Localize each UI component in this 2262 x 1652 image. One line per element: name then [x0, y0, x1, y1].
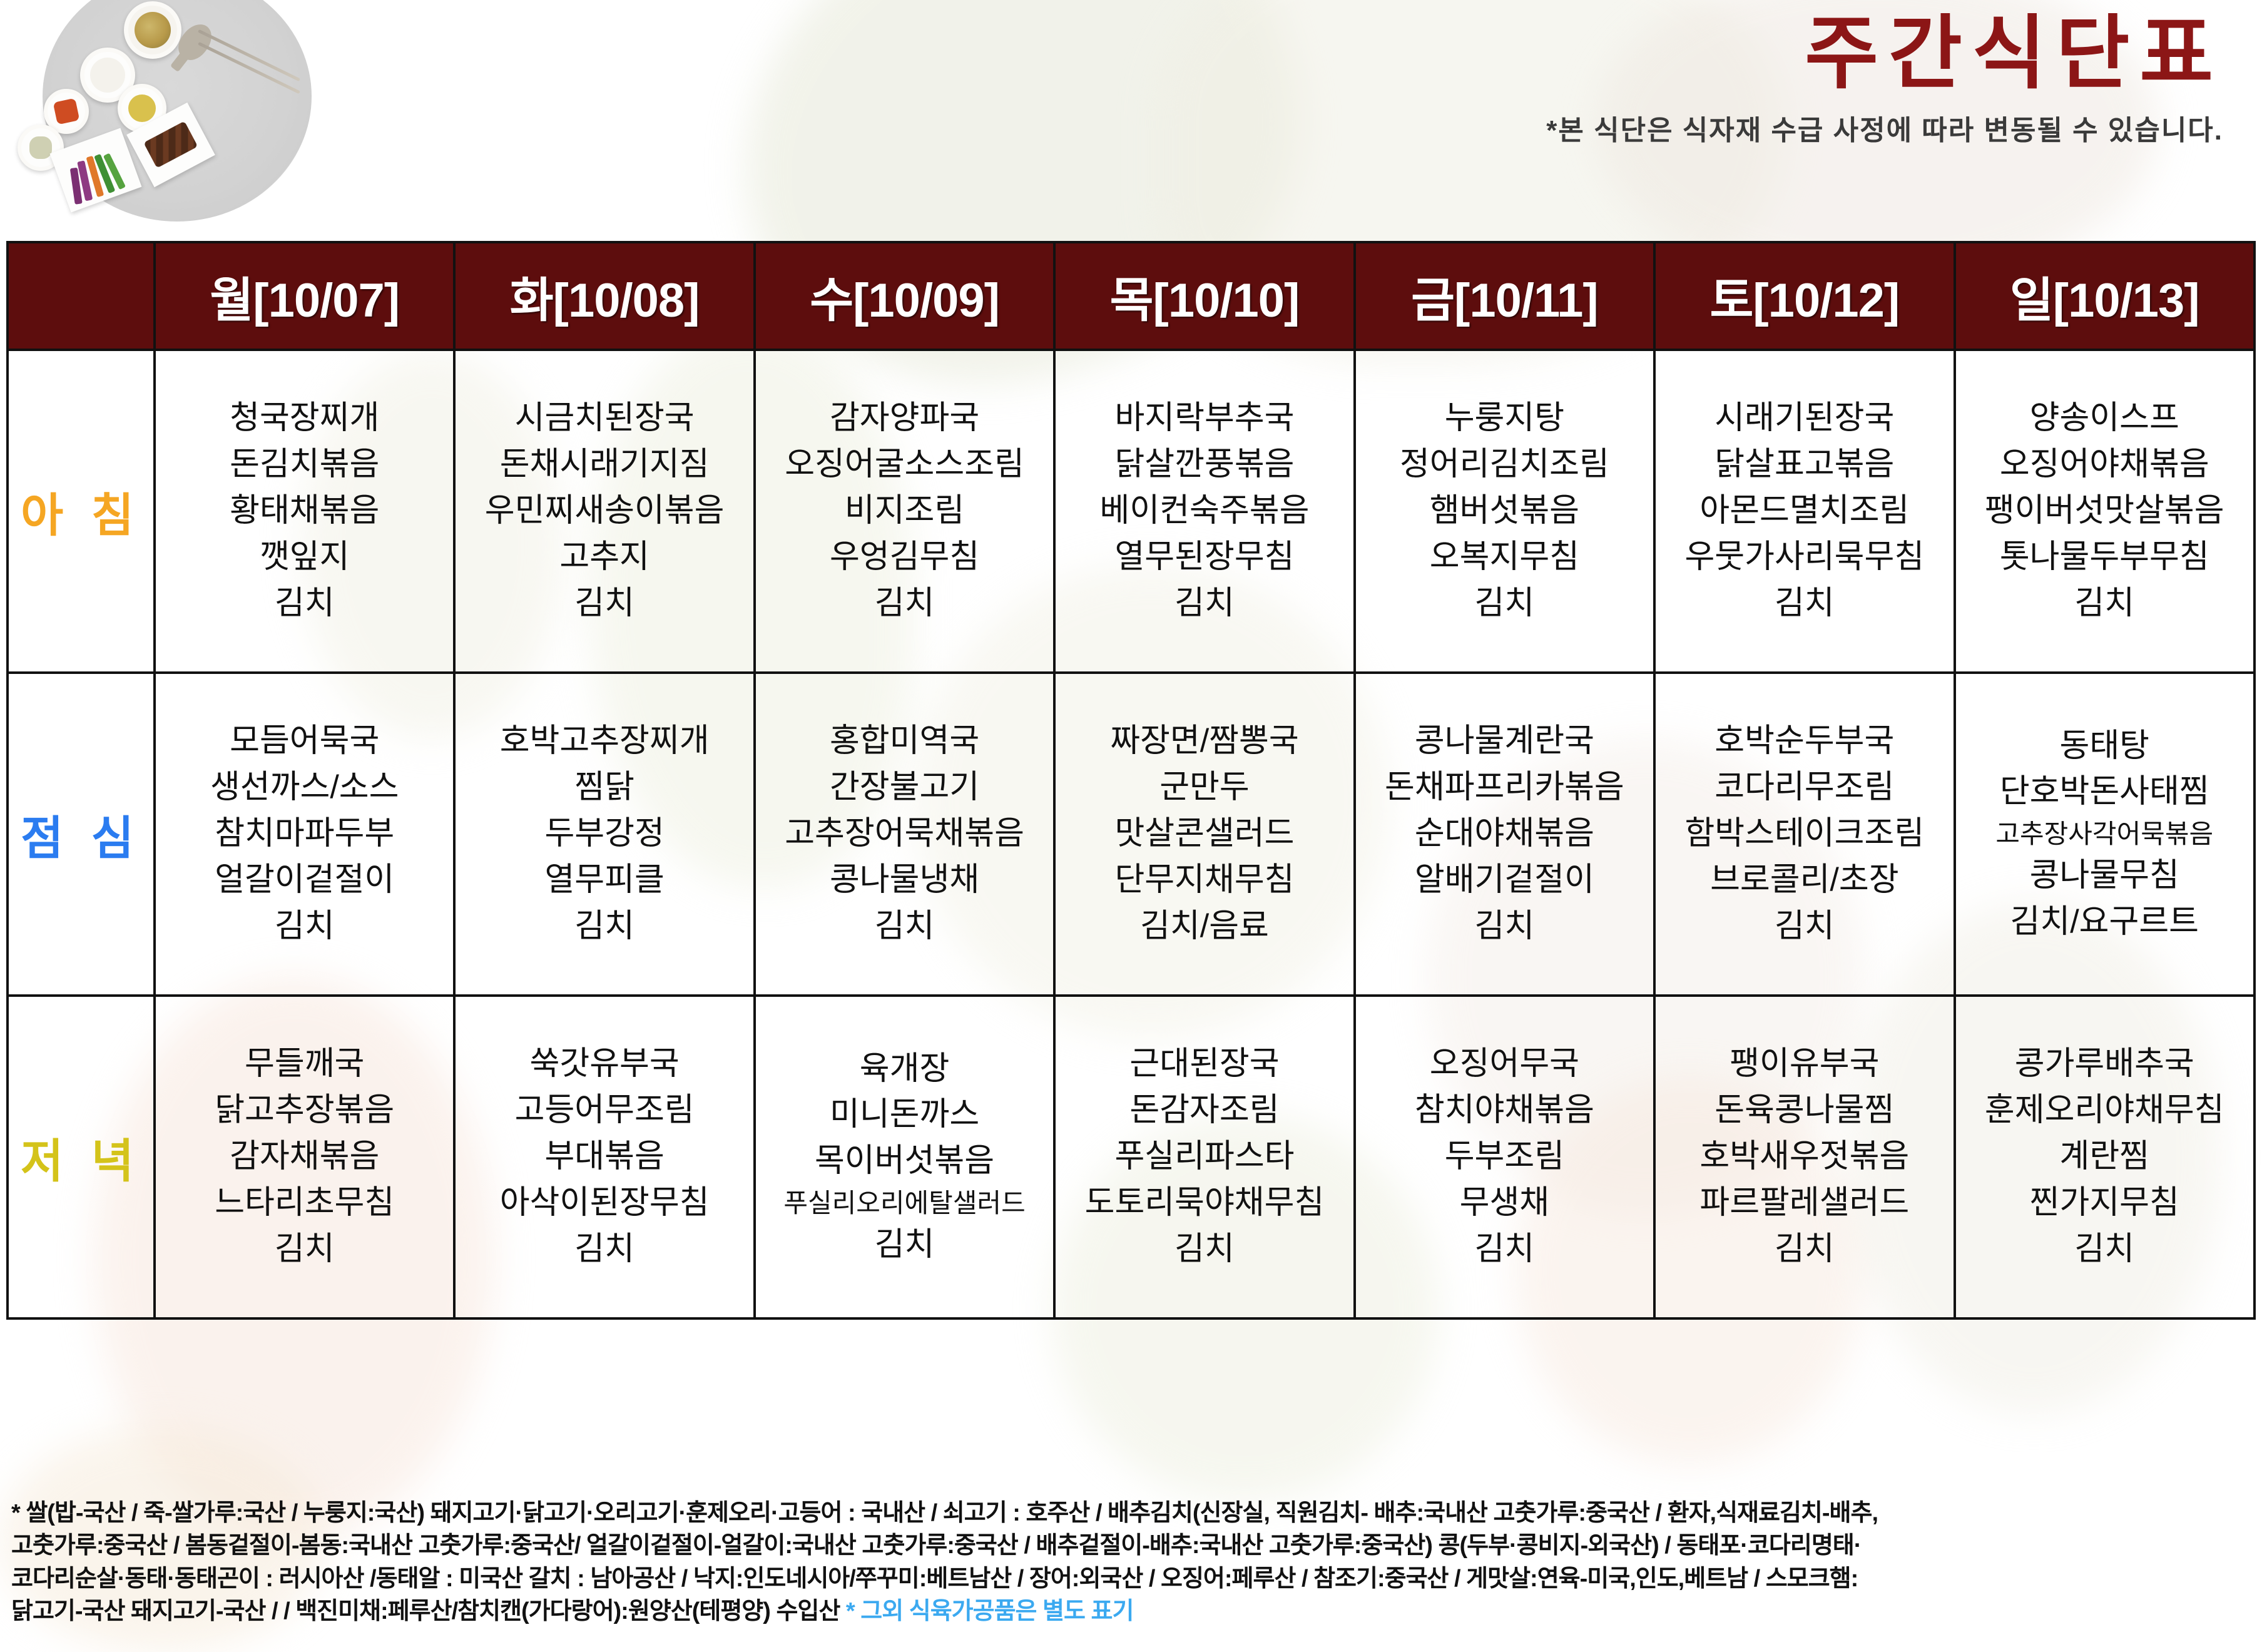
dish-item: 김치: [1356, 581, 1653, 627]
menu-cell-dinner-day3: 육개장미니돈까스목이버섯볶음푸실리오리에탈샐러드김치: [755, 996, 1054, 1318]
dish-item: 고추지: [456, 534, 753, 581]
dish-item: 계란찜: [1956, 1134, 2253, 1180]
dish-item: 찐가지무침: [1956, 1180, 2253, 1226]
dish-item: 베이컨숙주볶음: [1056, 488, 1353, 534]
dish-item: 김치: [156, 904, 453, 950]
dish-item: 김치: [1056, 1226, 1353, 1273]
dish-item: 단무지채무침: [1056, 857, 1353, 904]
dish-item: 깻잎지: [156, 534, 453, 581]
menu-cell-lunch-day3: 홍합미역국간장불고기고추장어묵채볶음콩나물냉채김치: [755, 673, 1054, 996]
menu-cell-lunch-day7: 동태탕단호박돈사태찜고추장사각어묵볶음콩나물무침김치/요구르트: [1955, 673, 2254, 996]
dish-item: 김치: [156, 581, 453, 627]
dish-item: 목이버섯볶음: [756, 1138, 1053, 1185]
dish-item: 호박새우젓볶음: [1656, 1134, 1953, 1180]
dish-item: 알배기겉절이: [1356, 857, 1653, 904]
dish-item: 코다리무조림: [1656, 765, 1953, 811]
dish-item: 닭살표고볶음: [1656, 442, 1953, 488]
dish-item: 콩나물계란국: [1356, 718, 1653, 765]
dish-item: 군만두: [1056, 765, 1353, 811]
dish-item: 참치마파두부: [156, 811, 453, 857]
dish-item: 오징어야채볶음: [1956, 442, 2253, 488]
dish-item: 돈채파프리카볶음: [1356, 765, 1653, 811]
footnote-line-2: 고춧가루:중국산 / 봄동겉절이-봄동:국내산 고춧가루:중국산/ 얼갈이겉절이…: [11, 1529, 2251, 1562]
dish-item: 동태탕: [1956, 723, 2253, 770]
dish-item: 김치: [1656, 581, 1953, 627]
dish-item: 홍합미역국: [756, 718, 1053, 765]
menu-body: 아 침청국장찌개돈김치볶음황태채볶음깻잎지김치시금치된장국돈채시래기지짐우민찌새…: [8, 350, 2254, 1318]
dish-item: 김치: [1656, 904, 1953, 950]
day-header-wed: 수[10/09]: [755, 242, 1054, 350]
dish-item: 단호박돈사태찜: [1956, 769, 2253, 815]
origin-footnote: * 쌀(밥-국산 / 죽-쌀가루:국산 / 누룽지:국산) 돼지고기·닭고기·오…: [11, 1497, 2251, 1628]
dish-item: 김치: [756, 904, 1053, 950]
dish-item: 김치: [456, 581, 753, 627]
menu-cell-lunch-day2: 호박고추장찌개찜닭두부강정열무피클김치: [454, 673, 754, 996]
dish-item: 김치: [756, 1222, 1053, 1268]
page-subtitle: *본 식단은 식자재 수급 사정에 따라 변동될 수 있습니다.: [1546, 108, 2223, 148]
dish-item: 김치: [456, 904, 753, 950]
menu-cell-dinner-day2: 쑥갓유부국고등어무조림부대볶음아삭이된장무침김치: [454, 996, 754, 1318]
dish-item: 김치/요구르트: [1956, 899, 2253, 946]
dish-item: 두부조림: [1356, 1134, 1653, 1180]
dish-item: 톳나물두부무침: [1956, 534, 2253, 581]
menu-cell-breakfast-day5: 누룽지탕정어리김치조림햄버섯볶음오복지무침김치: [1355, 350, 1654, 673]
dish-item: 햄버섯볶음: [1356, 488, 1653, 534]
dish-item: 느타리초무침: [156, 1180, 453, 1226]
meal-label-breakfast: 아 침: [8, 350, 155, 673]
menu-cell-breakfast-day3: 감자양파국오징어굴소스조림비지조림우엉김무침김치: [755, 350, 1054, 673]
dish-item: 무들깨국: [156, 1041, 453, 1088]
dish-item: 김치: [756, 581, 1053, 627]
menu-cell-lunch-day1: 모듬어묵국생선까스/소스참치마파두부얼갈이겉절이김치: [155, 673, 454, 996]
dish-item: 우엉김무침: [756, 534, 1053, 581]
menu-cell-dinner-day1: 무들깨국닭고추장볶음감자채볶음느타리초무침김치: [155, 996, 454, 1318]
dish-item: 파르팔레샐러드: [1656, 1180, 1953, 1226]
dish-item: 콩가루배추국: [1956, 1041, 2253, 1088]
dish-item: 열무피클: [456, 857, 753, 904]
dish-item: 돈육콩나물찜: [1656, 1088, 1953, 1134]
dish-item: 무생채: [1356, 1180, 1653, 1226]
dish-item: 청국장찌개: [156, 395, 453, 442]
dish-item: 김치: [456, 1226, 753, 1273]
footnote-line-1: * 쌀(밥-국산 / 죽-쌀가루:국산 / 누룽지:국산) 돼지고기·닭고기·오…: [11, 1497, 2251, 1529]
dish-item: 생선까스/소스: [156, 765, 453, 811]
dish-item: 얼갈이겉절이: [156, 857, 453, 904]
dish-item: 근대된장국: [1056, 1041, 1353, 1088]
menu-cell-breakfast-day2: 시금치된장국돈채시래기지짐우민찌새송이볶음고추지김치: [454, 350, 754, 673]
menu-cell-breakfast-day4: 바지락부추국닭살깐풍볶음베이컨숙주볶음열무된장무침김치: [1054, 350, 1354, 673]
dish-item: 콩나물무침: [1956, 853, 2253, 899]
day-header-fri: 금[10/11]: [1355, 242, 1654, 350]
dish-item: 찜닭: [456, 765, 753, 811]
dish-item: 팽이버섯맛살볶음: [1956, 488, 2253, 534]
menu-cell-breakfast-day7: 양송이스프오징어야채볶음팽이버섯맛살볶음톳나물두부무침김치: [1955, 350, 2254, 673]
menu-cell-breakfast-day1: 청국장찌개돈김치볶음황태채볶음깻잎지김치: [155, 350, 454, 673]
dish-item: 돈감자조림: [1056, 1088, 1353, 1134]
day-header-sun: 일[10/13]: [1955, 242, 2254, 350]
dish-item: 미니돈까스: [756, 1092, 1053, 1138]
menu-cell-dinner-day6: 팽이유부국돈육콩나물찜호박새우젓볶음파르팔레샐러드김치: [1654, 996, 1954, 1318]
dish-item: 열무된장무침: [1056, 534, 1353, 581]
footnote-line-4: 닭고기-국산 돼지고기-국산 / / 백진미채:페루산/참치캔(가다랑어):원양…: [11, 1595, 2251, 1628]
dish-item: 김치: [1356, 904, 1653, 950]
dish-item: 콩나물냉채: [756, 857, 1053, 904]
table-header-row: 월[10/07] 화[10/08] 수[10/09] 목[10/10] 금[10…: [8, 242, 2254, 350]
dish-item: 김치: [1956, 1226, 2253, 1273]
dish-item: 맛살콘샐러드: [1056, 811, 1353, 857]
header-banner: 주간식단표 *본 식단은 식자재 수급 사정에 따라 변동될 수 있습니다.: [0, 0, 2262, 241]
dish-item: 정어리김치조림: [1356, 442, 1653, 488]
menu-cell-dinner-day5: 오징어무국참치야채볶음두부조림무생채김치: [1355, 996, 1654, 1318]
dish-item: 양송이스프: [1956, 395, 2253, 442]
dish-item: 김치: [1056, 581, 1353, 627]
dish-item: 호박고추장찌개: [456, 718, 753, 765]
dish-item: 시금치된장국: [456, 395, 753, 442]
meal-label-dinner: 저 녁: [8, 996, 155, 1318]
dish-item: 함박스테이크조림: [1656, 811, 1953, 857]
dish-item: 참치야채볶음: [1356, 1088, 1653, 1134]
dish-item: 간장불고기: [756, 765, 1053, 811]
dish-item: 김치: [1956, 581, 2253, 627]
dish-item: 오징어무국: [1356, 1041, 1653, 1088]
dish-item: 고등어무조림: [456, 1088, 753, 1134]
menu-cell-breakfast-day6: 시래기된장국닭살표고볶음아몬드멸치조림우뭇가사리묵무침김치: [1654, 350, 1954, 673]
menu-row-lunch: 점 심모듬어묵국생선까스/소스참치마파두부얼갈이겉절이김치호박고추장찌개찜닭두부…: [8, 673, 2254, 996]
day-header-sat: 토[10/12]: [1654, 242, 1954, 350]
dish-item: 돈채시래기지짐: [456, 442, 753, 488]
dish-item: 감자채볶음: [156, 1134, 453, 1180]
menu-cell-dinner-day7: 콩가루배추국훈제오리야채무침계란찜찐가지무침김치: [1955, 996, 2254, 1318]
dish-item: 비지조림: [756, 488, 1053, 534]
menu-cell-dinner-day4: 근대된장국돈감자조림푸실리파스타도토리묵야채무침김치: [1054, 996, 1354, 1318]
dish-item: 육개장: [756, 1046, 1053, 1093]
dish-item: 오복지무침: [1356, 534, 1653, 581]
footnote-line-4-highlight: * 그외 식육가공품은 별도 표기: [846, 1598, 1134, 1624]
dish-item: 황태채볶음: [156, 488, 453, 534]
dish-item: 훈제오리야채무침: [1956, 1088, 2253, 1134]
dish-item: 푸실리파스타: [1056, 1134, 1353, 1180]
dish-item: 바지락부추국: [1056, 395, 1353, 442]
menu-row-dinner: 저 녁무들깨국닭고추장볶음감자채볶음느타리초무침김치쑥갓유부국고등어무조림부대볶…: [8, 996, 2254, 1318]
korean-meal-photo: [5, 0, 362, 231]
dish-item: 고추장어묵채볶음: [756, 811, 1053, 857]
dish-item: 김치: [156, 1226, 453, 1273]
dish-item: 호박순두부국: [1656, 718, 1953, 765]
dish-item: 감자양파국: [756, 395, 1053, 442]
dish-item: 부대볶음: [456, 1134, 753, 1180]
dish-item: 우뭇가사리묵무침: [1656, 534, 1953, 581]
page-title: 주간식단표: [1546, 14, 2223, 94]
dish-item: 누룽지탕: [1356, 395, 1653, 442]
weekly-menu-table: 월[10/07] 화[10/08] 수[10/09] 목[10/10] 금[10…: [6, 241, 2256, 1320]
dish-item: 돈김치볶음: [156, 442, 453, 488]
dish-item: 아몬드멸치조림: [1656, 488, 1953, 534]
dish-item: 쑥갓유부국: [456, 1041, 753, 1088]
dish-item: 팽이유부국: [1656, 1041, 1953, 1088]
day-header-thu: 목[10/10]: [1054, 242, 1354, 350]
day-header-tue: 화[10/08]: [454, 242, 754, 350]
dish-item: 시래기된장국: [1656, 395, 1953, 442]
dish-item: 짜장면/짬뽕국: [1056, 718, 1353, 765]
dish-item: 김치: [1656, 1226, 1953, 1273]
dish-item: 도토리묵야채무침: [1056, 1180, 1353, 1226]
menu-cell-lunch-day4: 짜장면/짬뽕국군만두맛살콘샐러드단무지채무침김치/음료: [1054, 673, 1354, 996]
dish-item: 고추장사각어묵볶음: [1956, 815, 2253, 853]
menu-cell-lunch-day5: 콩나물계란국돈채파프리카볶음순대야채볶음알배기겉절이김치: [1355, 673, 1654, 996]
chopsticks-icon: [193, 38, 312, 113]
table-corner-cell: [8, 242, 155, 350]
dish-item: 닭살깐풍볶음: [1056, 442, 1353, 488]
soup-bowl-icon: [124, 1, 181, 59]
dish-item: 오징어굴소스조림: [756, 442, 1053, 488]
meal-label-lunch: 점 심: [8, 673, 155, 996]
menu-cell-lunch-day6: 호박순두부국코다리무조림함박스테이크조림브로콜리/초장김치: [1654, 673, 1954, 996]
dish-item: 우민찌새송이볶음: [456, 488, 753, 534]
dish-item: 아삭이된장무침: [456, 1180, 753, 1226]
footnote-line-4-black: 닭고기-국산 돼지고기-국산 / / 백진미채:페루산/참치캔(가다랑어):원양…: [11, 1598, 846, 1624]
dish-item: 모듬어묵국: [156, 718, 453, 765]
dish-item: 브로콜리/초장: [1656, 857, 1953, 904]
dish-item: 닭고추장볶음: [156, 1088, 453, 1134]
dish-item: 김치: [1356, 1226, 1653, 1273]
dish-item: 푸실리오리에탈샐러드: [756, 1185, 1053, 1222]
day-header-mon: 월[10/07]: [155, 242, 454, 350]
dish-item: 순대야채볶음: [1356, 811, 1653, 857]
menu-row-breakfast: 아 침청국장찌개돈김치볶음황태채볶음깻잎지김치시금치된장국돈채시래기지짐우민찌새…: [8, 350, 2254, 673]
dish-item: 두부강정: [456, 811, 753, 857]
footnote-line-3: 코다리순살·동태·동태곤이 : 러시아산 /동태알 : 미국산 갈치 : 남아공…: [11, 1563, 2251, 1595]
dish-item: 김치/음료: [1056, 904, 1353, 950]
